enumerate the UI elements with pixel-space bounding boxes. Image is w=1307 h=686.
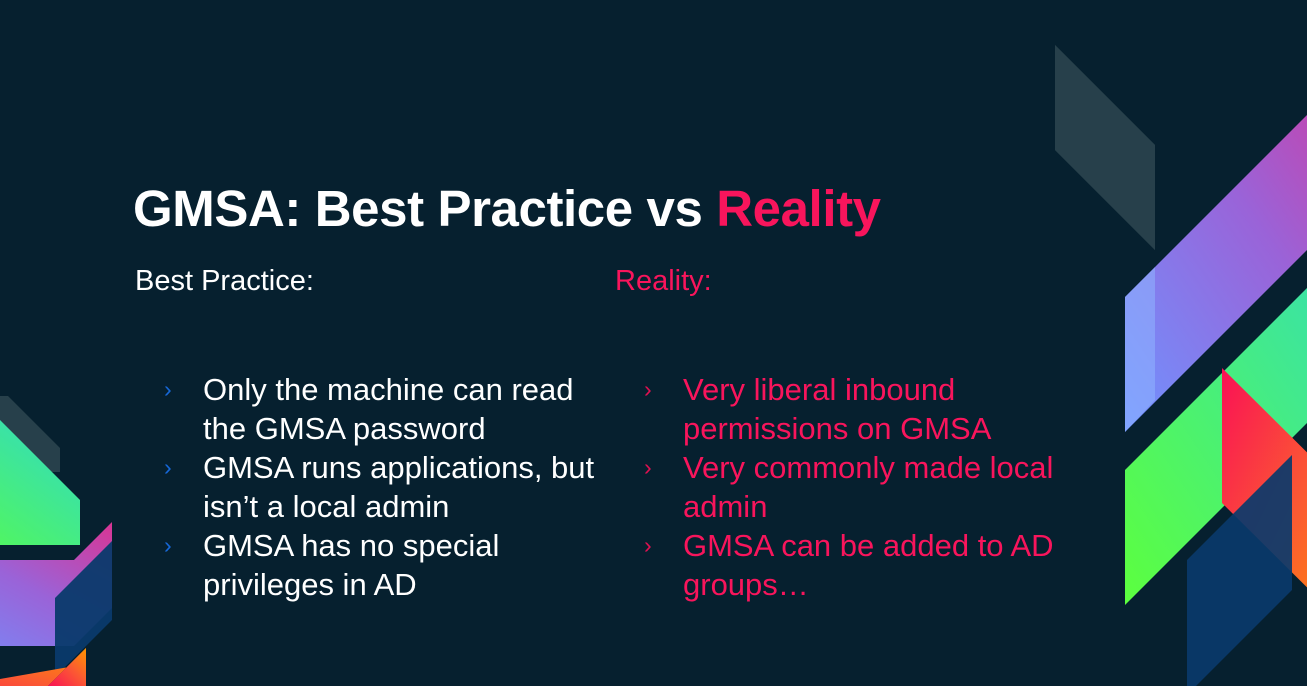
warm-chevron-arm	[0, 648, 86, 686]
warm-chevron-upper	[1222, 368, 1307, 635]
slide-title: GMSA: Best Practice vs Reality	[133, 179, 881, 238]
bullet-list-best-practice: › Only the machine can read the GMSA pas…	[157, 370, 607, 604]
list-item-label: GMSA has no special privileges in AD	[203, 528, 499, 602]
purple-gradient-band	[1125, 25, 1307, 432]
list-item-label: Very liberal inbound permissions on GMSA	[683, 372, 991, 446]
list-item-label: GMSA can be added to AD groups…	[683, 528, 1054, 602]
blue-accent-parallelogram	[1125, 267, 1155, 432]
navy-overlay-parallelogram	[1187, 455, 1292, 686]
slide-title-accent: Reality	[716, 180, 880, 237]
chevron-artwork-left	[0, 0, 135, 686]
list-item: › GMSA has no special privileges in AD	[157, 526, 607, 604]
warm-gradient-chevron-left	[0, 664, 86, 686]
chevron-right-icon: ›	[644, 370, 652, 409]
list-item: › GMSA runs applications, but isn’t a lo…	[157, 448, 607, 526]
slide-canvas: GMSA: Best Practice vs Reality Best Prac…	[0, 0, 1307, 686]
warm-chevron-vertical	[48, 648, 86, 686]
list-item: › Only the machine can read the GMSA pas…	[157, 370, 607, 448]
chevron-right-icon: ›	[644, 526, 652, 565]
green-teal-chevron-left	[0, 415, 80, 545]
list-item-label: Only the machine can read the GMSA passw…	[203, 372, 574, 446]
chevron-right-icon: ›	[164, 448, 172, 487]
list-item: › GMSA can be added to AD groups…	[637, 526, 1087, 604]
slate-chevron-shape-2	[1055, 45, 1155, 250]
slide-title-main: GMSA: Best Practice vs	[133, 180, 716, 237]
chevron-right-icon: ›	[644, 448, 652, 487]
column-reality: Reality: › Very liberal inbound permissi…	[615, 266, 1085, 298]
slate-left-chevron	[0, 396, 60, 472]
purple-magenta-chevron	[0, 522, 112, 646]
list-item-label: Very commonly made local admin	[683, 450, 1053, 524]
list-item: › Very commonly made local admin	[637, 448, 1087, 526]
green-teal-band	[1125, 198, 1307, 605]
list-item-label: GMSA runs applications, but isn’t a loca…	[203, 450, 594, 524]
chevron-right-icon: ›	[164, 370, 172, 409]
slate-chevron-shape	[1055, 45, 1155, 250]
navy-overlay-left	[55, 541, 112, 677]
column-header-best-practice: Best Practice:	[135, 266, 605, 298]
column-header-reality: Reality:	[615, 266, 1085, 298]
chevron-right-icon: ›	[164, 526, 172, 565]
column-best-practice: Best Practice: › Only the machine can re…	[135, 266, 605, 298]
bullet-list-reality: › Very liberal inbound permissions on GM…	[637, 370, 1087, 604]
list-item: › Very liberal inbound permissions on GM…	[637, 370, 1087, 448]
